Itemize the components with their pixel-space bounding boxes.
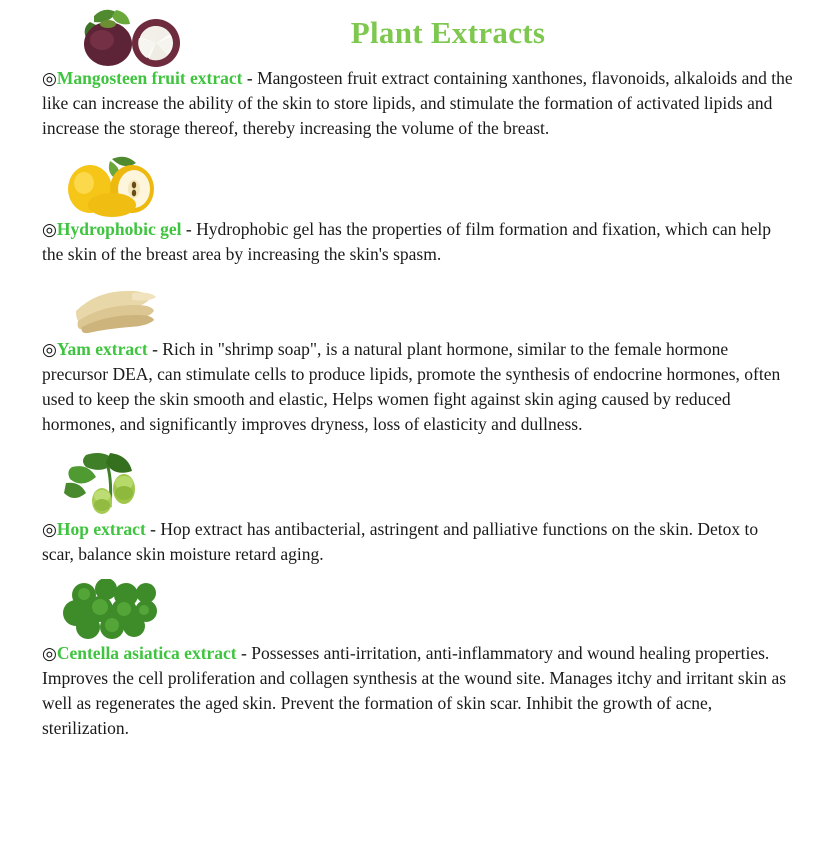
section-yam: ◎Yam extract - Rich in "shrimp soap", is… (42, 277, 794, 437)
dash-separator: - (150, 519, 156, 539)
hydrophobic-gel-fruit-illustration (60, 155, 794, 217)
bullet-icon: ◎ (42, 520, 57, 539)
section-centella: ◎Centella asiatica extract - Possesses a… (42, 579, 794, 741)
dash-separator: - (247, 68, 253, 88)
centella-asiatica-leaves-illustration (54, 579, 794, 641)
bullet-icon: ◎ (42, 220, 57, 239)
paragraph-hydrophobic-gel: ◎Hydrophobic gel - Hydrophobic gel has t… (42, 217, 794, 267)
bullet-icon: ◎ (42, 69, 57, 88)
mangosteen-fruit-illustration (50, 8, 794, 66)
term-yam: Yam extract (57, 339, 148, 359)
bullet-icon: ◎ (42, 644, 57, 663)
section-hop: ◎Hop extract - Hop extract has antibacte… (42, 449, 794, 567)
section-hydrophobic-gel: ◎Hydrophobic gel - Hydrophobic gel has t… (42, 155, 794, 267)
yam-root-illustration (62, 277, 794, 337)
section-mangosteen: ◎Mangosteen fruit extract - Mangosteen f… (42, 8, 794, 141)
term-centella: Centella asiatica extract (57, 643, 237, 663)
dash-separator: - (241, 643, 247, 663)
paragraph-centella: ◎Centella asiatica extract - Possesses a… (42, 641, 794, 741)
paragraph-mangosteen: ◎Mangosteen fruit extract - Mangosteen f… (42, 66, 794, 141)
term-hop: Hop extract (57, 519, 146, 539)
hop-plant-illustration (52, 449, 794, 517)
bullet-icon: ◎ (42, 340, 57, 359)
term-hydrophobic-gel: Hydrophobic gel (57, 219, 182, 239)
dash-separator: - (152, 339, 158, 359)
term-mangosteen: Mangosteen fruit extract (57, 68, 243, 88)
document-page: Plant Extracts (0, 14, 832, 846)
paragraph-yam: ◎Yam extract - Rich in "shrimp soap", is… (42, 337, 794, 437)
dash-separator: - (186, 219, 192, 239)
paragraph-hop: ◎Hop extract - Hop extract has antibacte… (42, 517, 794, 567)
